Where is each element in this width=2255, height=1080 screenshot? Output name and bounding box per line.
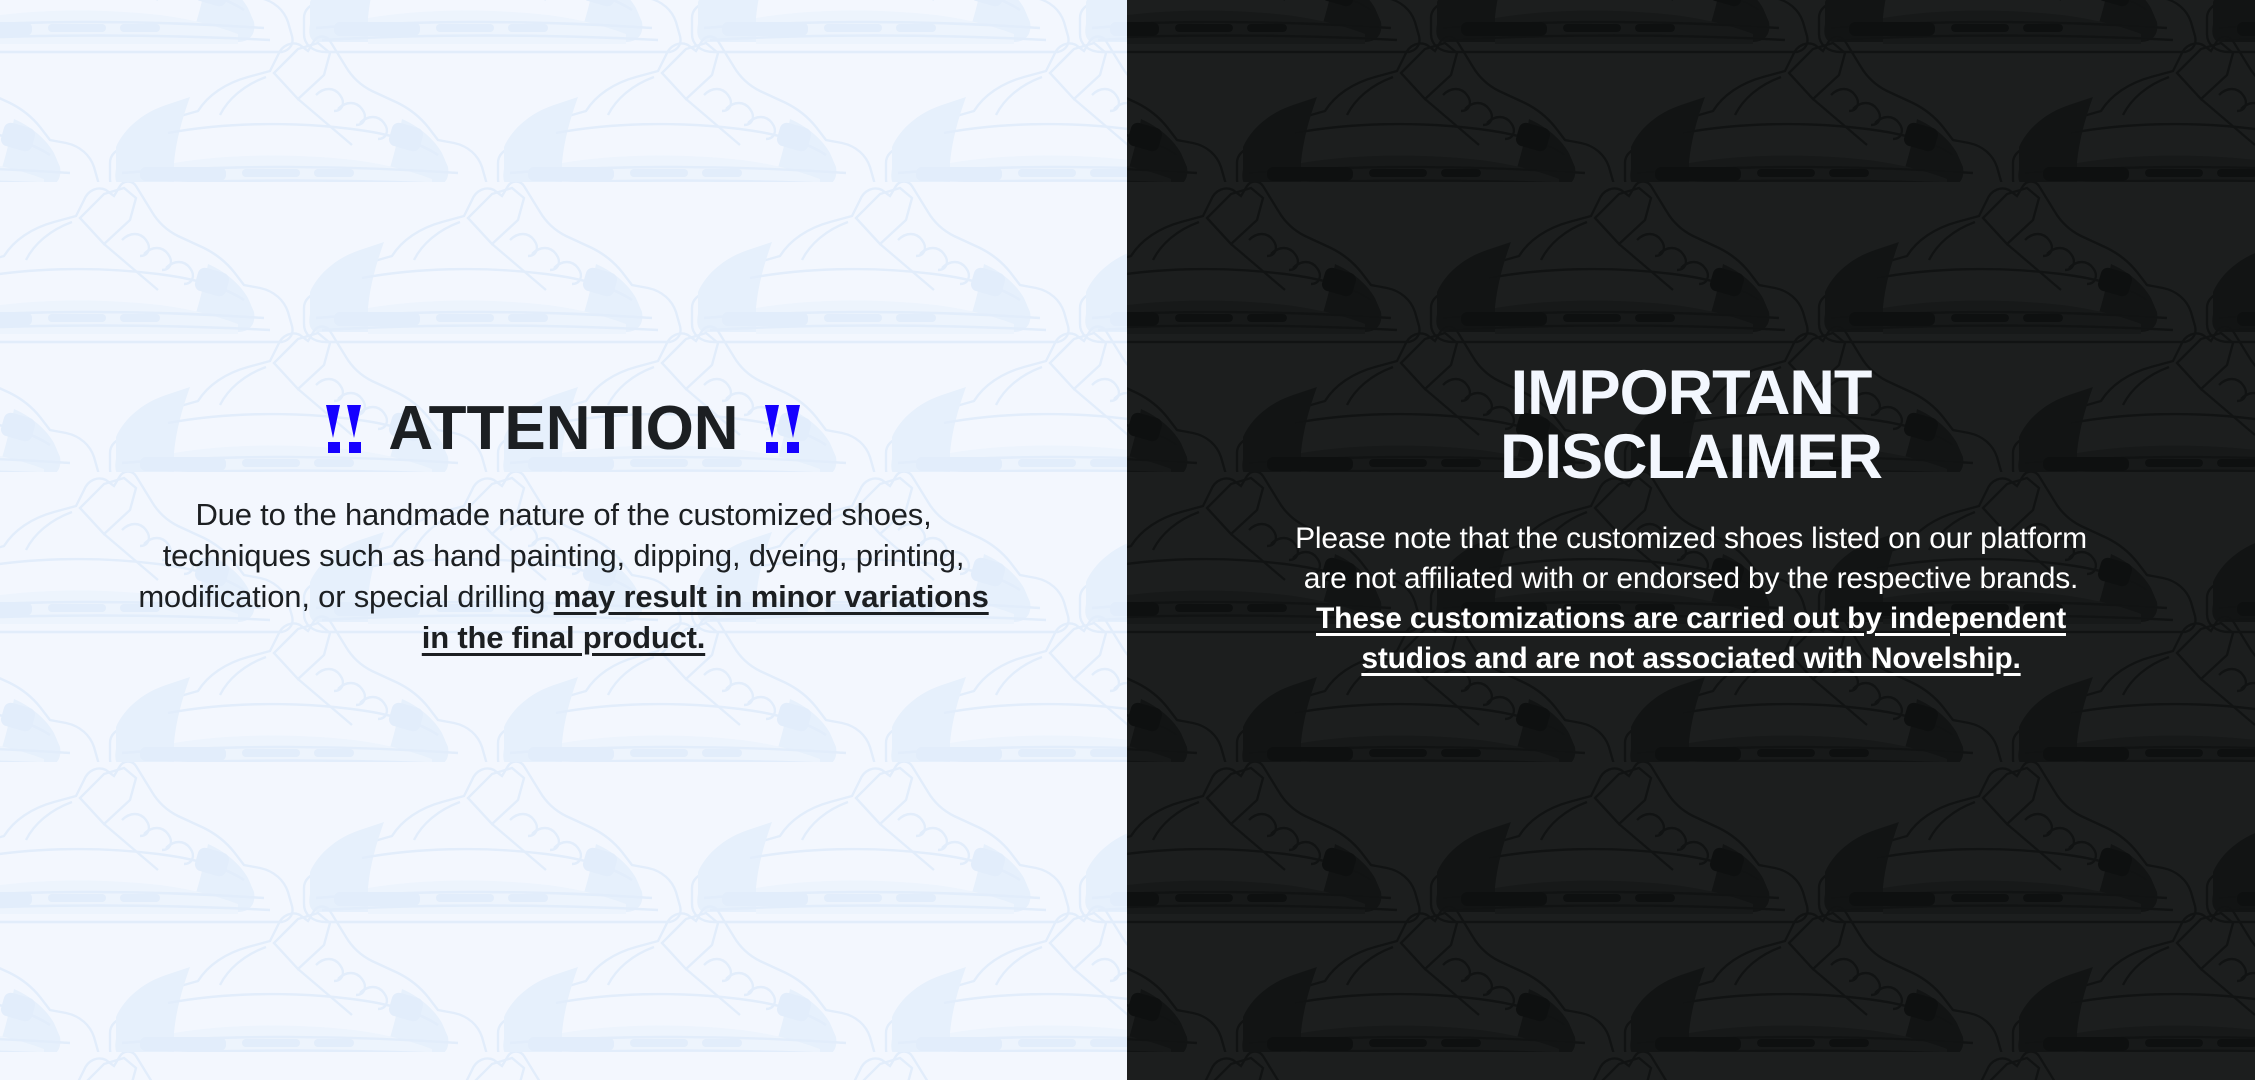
disclaimer-panel: IMPORTANT DISCLAIMER Please note that th… — [1127, 0, 2255, 1080]
double-exclamation-mark-icon-left — [326, 405, 362, 453]
disclaimer-body: Please note that the customized shoes li… — [1271, 519, 2111, 679]
attention-content: ATTENTION Due to the handmade nature of … — [134, 398, 994, 659]
disclaimer-content: IMPORTANT DISCLAIMER Please note that th… — [1271, 361, 2111, 679]
disclaimer-heading-line1: IMPORTANT — [1511, 358, 1872, 428]
attention-body: Due to the handmade nature of the custom… — [134, 494, 994, 659]
disclaimer-body-emphasis: These customizations are carried out by … — [1316, 602, 2066, 675]
disclaimer-heading: IMPORTANT DISCLAIMER — [1271, 361, 2111, 490]
attention-heading: ATTENTION — [134, 398, 994, 460]
double-exclamation-mark-icon-right — [765, 405, 801, 453]
disclaimer-heading-line2: DISCLAIMER — [1500, 422, 1882, 492]
attention-panel: ATTENTION Due to the handmade nature of … — [0, 0, 1127, 1080]
disclaimer-banner: ATTENTION Due to the handmade nature of … — [0, 0, 2255, 1080]
disclaimer-body-normal: Please note that the customized shoes li… — [1295, 522, 2087, 595]
attention-heading-text: ATTENTION — [388, 398, 738, 460]
